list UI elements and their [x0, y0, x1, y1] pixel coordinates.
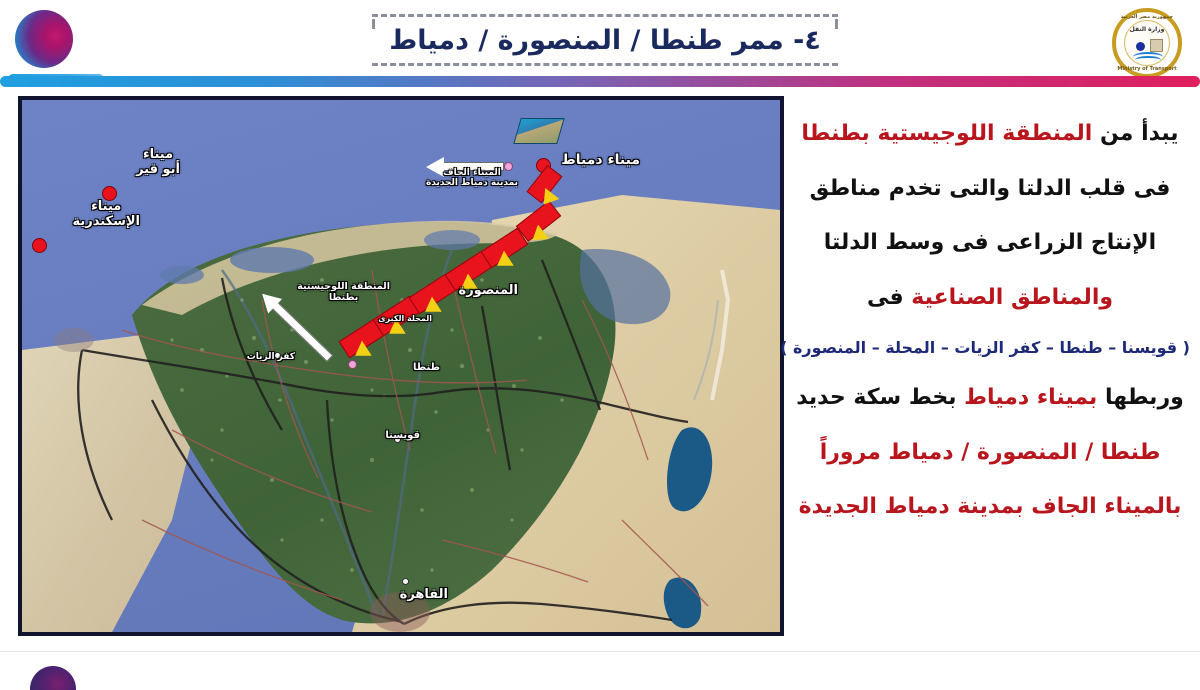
ministry-of-transport-seal-icon: جمهورية مصر العربية وزارة النقل Ministry… — [1112, 8, 1182, 78]
line5-prefix: وربطها — [1097, 385, 1183, 410]
description-panel: يبدأ من المنطقة اللوجيستية بطنطا فى قلب … — [790, 120, 1190, 548]
line5-highlight: بميناء دمياط — [964, 385, 1097, 410]
header-gradient-divider — [0, 76, 1200, 87]
line4-highlight: والمناطق الصناعية — [911, 285, 1113, 310]
seal-cargo-box-icon — [1150, 39, 1163, 52]
seal-blue-dot-icon — [1136, 42, 1145, 51]
map-label-alexandria-line1: ميناء — [72, 200, 140, 215]
line1-highlight: المنطقة اللوجيستية بطنطا — [801, 121, 1092, 146]
brand-sphere-logo-icon — [15, 10, 73, 68]
map-label-tanta: طنطا — [413, 362, 440, 374]
slide-root: ٤- ممر طنطا / المنصورة / دمياط جمهورية م… — [0, 0, 1200, 690]
marker-alexandria-port[interactable] — [32, 238, 47, 253]
industrial-zones-list: ( قويسنا – طنطا – كفر الزيات – المحلة – … — [790, 338, 1190, 357]
line4-suffix: فى — [867, 285, 911, 310]
footer-divider — [0, 651, 1200, 652]
seal-wave-secondary-icon — [1135, 56, 1161, 64]
marker-cairo[interactable] — [402, 578, 409, 585]
line1-prefix: يبدأ من — [1092, 121, 1178, 146]
map-label-dry-port-line1: الميناء الجاف — [426, 168, 518, 178]
map-label-abu-qir-port: ميناء أبو قير — [136, 148, 180, 178]
marker-tanta-logistics-zone[interactable] — [348, 360, 357, 369]
slide-title-box: ٤- ممر طنطا / المنصورة / دمياط — [372, 14, 838, 66]
map-label-alexandria-port: ميناء الإسكندرية — [72, 200, 140, 230]
page-title: ٤- ممر طنطا / المنصورة / دمياط — [389, 25, 821, 56]
map-label-dry-port: الميناء الجاف بمدينة دمياط الجديدة — [426, 168, 518, 189]
map-label-damietta-port: ميناء دمياط — [561, 152, 640, 168]
description-line-3: الإنتاج الزراعى فى وسط الدلتا — [790, 229, 1190, 257]
map-label-abu-qir-line1: ميناء — [136, 148, 180, 163]
seal-center-text: وزارة النقل — [1125, 26, 1169, 33]
map-label-dry-port-line2: بمدينة دمياط الجديدة — [426, 178, 518, 188]
map-label-mahalla: المحلة الكبرى — [378, 314, 432, 323]
description-line-7: بالميناء الجاف بمدينة دمياط الجديدة — [790, 493, 1190, 521]
description-line-6: طنطا / المنصورة / دمياط مروراً — [790, 439, 1190, 467]
description-line-1: يبدأ من المنطقة اللوجيستية بطنطا — [790, 120, 1190, 148]
map-label-alexandria-line2: الإسكندرية — [72, 215, 140, 230]
line5-suffix: بخط سكة حديد — [796, 385, 964, 410]
seal-inner-disc: وزارة النقل — [1124, 20, 1170, 66]
map-panel[interactable]: ميناء أبو قير ميناء الإسكندرية ميناء دمي… — [18, 96, 784, 636]
footer-sphere-logo-icon — [30, 666, 76, 690]
map-label-quesna: قويسنا — [385, 430, 420, 442]
map-label-logistics-zone: المنطقة اللوجيستية بطنطا — [297, 282, 390, 304]
map-label-logistics-line2: بطنطا — [297, 293, 390, 304]
description-line-5: وربطها بميناء دمياط بخط سكة حديد — [790, 384, 1190, 412]
map-label-mansoura: المنصورة — [459, 284, 518, 299]
seal-bottom-text: Ministry of Transport — [1116, 66, 1178, 72]
slide-header: ٤- ممر طنطا / المنصورة / دمياط جمهورية م… — [0, 0, 1200, 86]
description-line-2: فى قلب الدلتا والتى تخدم مناطق — [790, 175, 1190, 203]
map-label-abu-qir-line2: أبو قير — [136, 163, 180, 178]
map-label-cairo: القاهرة — [400, 588, 448, 603]
satellite-map-image — [22, 100, 780, 632]
line6-text: طنطا / المنصورة / دمياط مروراً — [820, 440, 1161, 465]
map-label-kafr-el-zayat: كفر الزيات — [247, 352, 295, 362]
line7-text: بالميناء الجاف بمدينة دمياط الجديدة — [799, 494, 1182, 519]
description-line-4: والمناطق الصناعية فى — [790, 284, 1190, 312]
damietta-port-photo-icon — [513, 118, 564, 144]
